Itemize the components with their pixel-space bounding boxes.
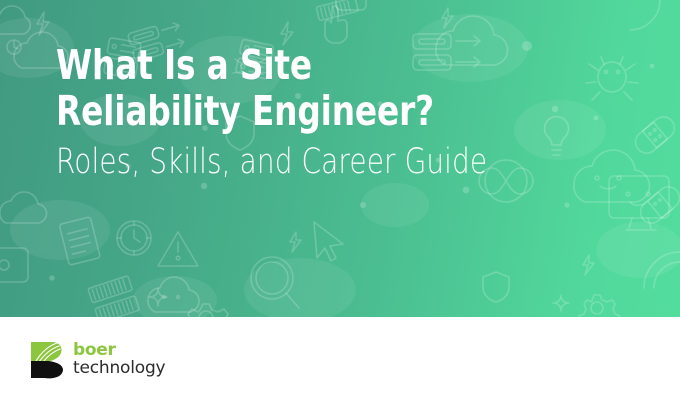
shield-icon [483, 272, 509, 302]
magnifier-icon [251, 257, 299, 308]
clipboard-icon [59, 217, 100, 265]
cursor-arrow-icon [314, 222, 343, 261]
hero-copy: What Is a Site Reliability Engineer? Rol… [56, 42, 616, 182]
pointing-hand-icon [325, 6, 347, 43]
arc-icon [644, 252, 680, 288]
page-subtitle: Roles, Skills, and Career Guide [56, 142, 504, 182]
bandage-icon [631, 112, 679, 157]
footer-bar: boer technology [0, 317, 680, 400]
server-rack-icon [95, 296, 140, 317]
gear-icon [183, 304, 233, 317]
lightning-bolt-icon [583, 255, 594, 275]
boer-technology-logo-mark [30, 341, 64, 379]
brand-name-secondary: technology [73, 360, 165, 377]
card-icon [336, 0, 366, 10]
server-rack-icon [316, 0, 358, 21]
server-rack-icon [88, 276, 133, 303]
lightning-bolt-icon [37, 12, 49, 35]
lightning-bolt-icon [442, 8, 453, 28]
bandage-icon [636, 182, 680, 227]
blog-hero-banner: What Is a Site Reliability Engineer? Rol… [0, 0, 680, 400]
brand-logo[interactable]: boer technology [30, 341, 165, 379]
cloud-icon [0, 192, 47, 223]
cloud-smiley-icon [148, 277, 199, 312]
arc-icon [630, 0, 660, 30]
sparkle-icon [553, 295, 569, 311]
gear-icon [579, 295, 620, 317]
page-title: What Is a Site Reliability Engineer? [56, 42, 504, 134]
monitor-smiley-icon [609, 176, 669, 230]
brand-wordmark: boer technology [73, 342, 165, 377]
clock-icon [117, 221, 151, 255]
lightning-bolt-icon [290, 232, 301, 252]
brand-name-primary: boer [73, 342, 165, 359]
tablet-icon [0, 248, 28, 282]
sparkle-icon [149, 288, 167, 306]
hero-section: What Is a Site Reliability Engineer? Rol… [0, 0, 680, 317]
warning-triangle-icon [158, 232, 198, 266]
cloud-icon [0, 6, 30, 34]
